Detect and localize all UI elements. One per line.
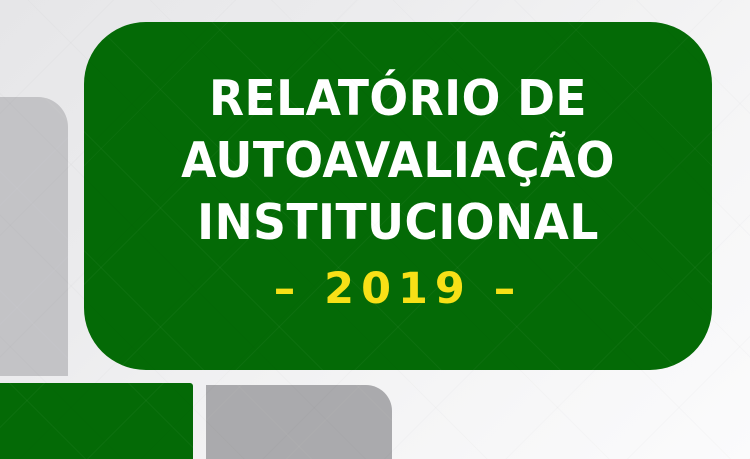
decorative-green-bottom-bar <box>0 383 193 459</box>
page-title-line-2: AUTOAVALIAÇÃO <box>106 130 690 192</box>
year-label: – 2019 – <box>84 264 712 314</box>
page-title-line-1: RELATÓRIO DE <box>106 68 690 130</box>
decorative-gray-left-panel <box>0 97 68 376</box>
panel-texture <box>0 383 193 459</box>
report-cover-page: RELATÓRIO DE AUTOAVALIAÇÃO INSTITUCIONAL… <box>0 0 750 459</box>
title-block: RELATÓRIO DE AUTOAVALIAÇÃO INSTITUCIONAL… <box>84 68 712 314</box>
decorative-gray-bottom-bar <box>206 385 392 459</box>
panel-texture <box>206 385 392 459</box>
title-card: RELATÓRIO DE AUTOAVALIAÇÃO INSTITUCIONAL… <box>84 22 712 370</box>
page-title-line-3: INSTITUCIONAL <box>106 192 690 254</box>
panel-texture <box>0 97 68 376</box>
